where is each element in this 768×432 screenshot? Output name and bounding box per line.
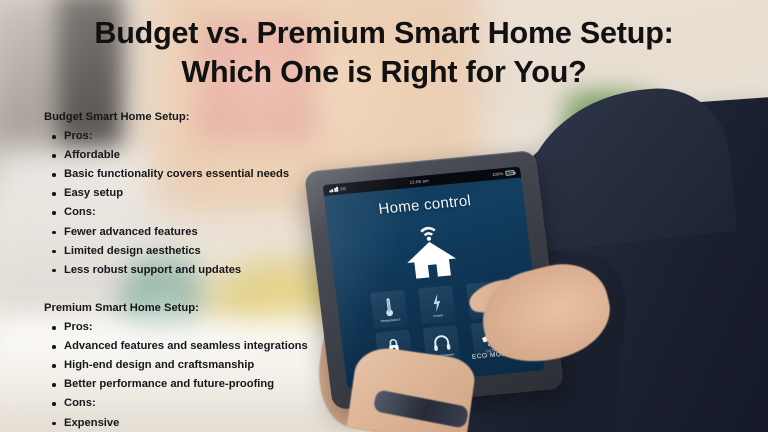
bullet-list-budget: Pros: Affordable Basic functionality cov… — [44, 127, 374, 280]
section-budget: Budget Smart Home Setup: Pros: Affordabl… — [44, 108, 374, 280]
thermometer-icon — [382, 296, 396, 317]
list-item: Better performance and future-proofing — [44, 375, 374, 394]
list-item: Advanced features and seamless integrati… — [44, 337, 374, 356]
battery-percent-label: 100% — [492, 171, 504, 177]
list-item: Affordable — [44, 146, 374, 165]
list-item: Basic functionality covers essential nee… — [44, 165, 374, 184]
list-item: Cons: — [44, 203, 374, 222]
tile-label: Power — [433, 313, 444, 318]
battery-icon — [505, 170, 515, 175]
content-list: Budget Smart Home Setup: Pros: Affordabl… — [44, 108, 374, 432]
page-title: Budget vs. Premium Smart Home Setup: Whi… — [0, 14, 768, 92]
house-wifi-icon — [396, 220, 465, 283]
headline-line-2: Which One is Right for You? — [14, 53, 754, 92]
list-item: Easy setup — [44, 184, 374, 203]
lightning-bolt-icon — [430, 292, 444, 313]
section-heading: Premium Smart Home Setup: — [44, 299, 374, 318]
bullet-list-premium: Pros: Advanced features and seamless int… — [44, 318, 374, 432]
section-premium: Premium Smart Home Setup: Pros: Advanced… — [44, 299, 374, 432]
tile-power[interactable]: Power — [418, 285, 456, 324]
list-item: High-end design and craftsmanship — [44, 356, 374, 375]
list-item: Fewer advanced features — [44, 223, 374, 242]
section-spacer — [44, 280, 374, 299]
tile-label: Temperature — [380, 317, 401, 323]
headline-line-1: Budget vs. Premium Smart Home Setup: — [14, 14, 754, 53]
list-item: Less robust support and updates — [44, 261, 374, 280]
section-heading: Budget Smart Home Setup: — [44, 108, 374, 127]
list-item: Limited design aesthetics — [44, 242, 374, 261]
headphones-icon — [431, 331, 451, 353]
list-item: Expensive — [44, 414, 374, 432]
tile-temperature[interactable]: Temperature — [370, 290, 408, 329]
list-item: Cons: — [44, 394, 374, 413]
status-bar-time: 12:06 am — [409, 178, 429, 185]
list-item: Pros: — [44, 318, 374, 337]
list-item: Pros: — [44, 127, 374, 146]
